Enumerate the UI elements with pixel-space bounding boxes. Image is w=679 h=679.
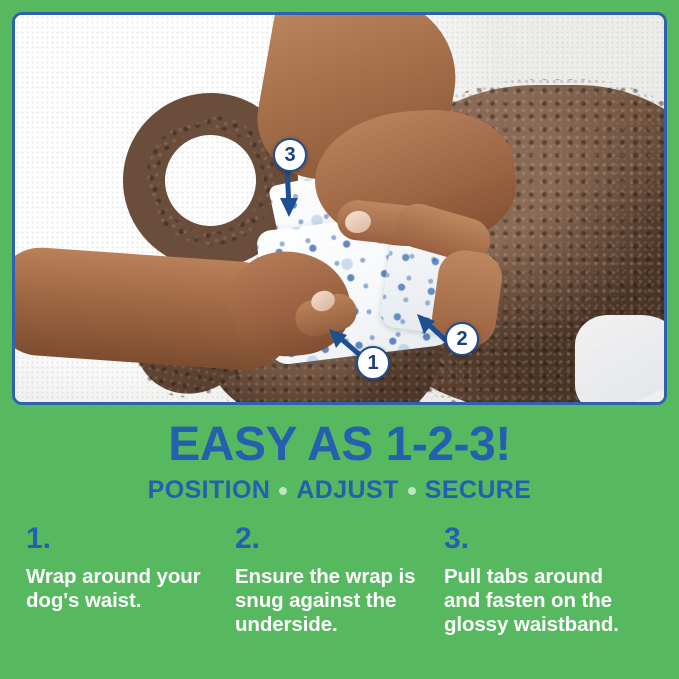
subtitle-separator-dot-icon [408, 487, 416, 495]
subtitle-part-adjust: ADJUST [296, 478, 398, 503]
product-instruction-poster: 3 1 2 EASY AS 1-2-3! POSITION ADJUST SEC… [0, 0, 679, 679]
subtitle-part-position: POSITION [148, 478, 271, 503]
headline-title: EASY AS 1-2-3! [0, 421, 679, 469]
step-number-2: 2. [235, 524, 426, 554]
step-item-1: 1. Wrap around your dog's waist. [26, 524, 235, 638]
step-item-3: 3. Pull tabs around and fasten on the gl… [444, 524, 653, 638]
callout-badge-1: 1 [356, 346, 390, 380]
callout-badge-3: 3 [273, 138, 307, 172]
instruction-photo-frame: 3 1 2 [12, 12, 667, 405]
step-text-1: Wrap around your dog's waist. [26, 565, 217, 613]
step-number-1: 1. [26, 524, 217, 554]
headline-subtitle: POSITION ADJUST SECURE [0, 478, 679, 503]
subtitle-part-secure: SECURE [425, 478, 532, 503]
step-number-3: 3. [444, 524, 635, 554]
steps-list: 1. Wrap around your dog's waist. 2. Ensu… [0, 524, 679, 638]
dog-wrap-far-edge [575, 315, 664, 402]
instruction-photo: 3 1 2 [15, 15, 664, 402]
step-item-2: 2. Ensure the wrap is snug against the u… [235, 524, 444, 638]
callout-arrow-3-icon [277, 165, 337, 235]
step-text-2: Ensure the wrap is snug against the unde… [235, 565, 426, 638]
subtitle-separator-dot-icon [279, 487, 287, 495]
callout-badge-2: 2 [445, 322, 479, 356]
step-text-3: Pull tabs around and fasten on the gloss… [444, 565, 635, 638]
